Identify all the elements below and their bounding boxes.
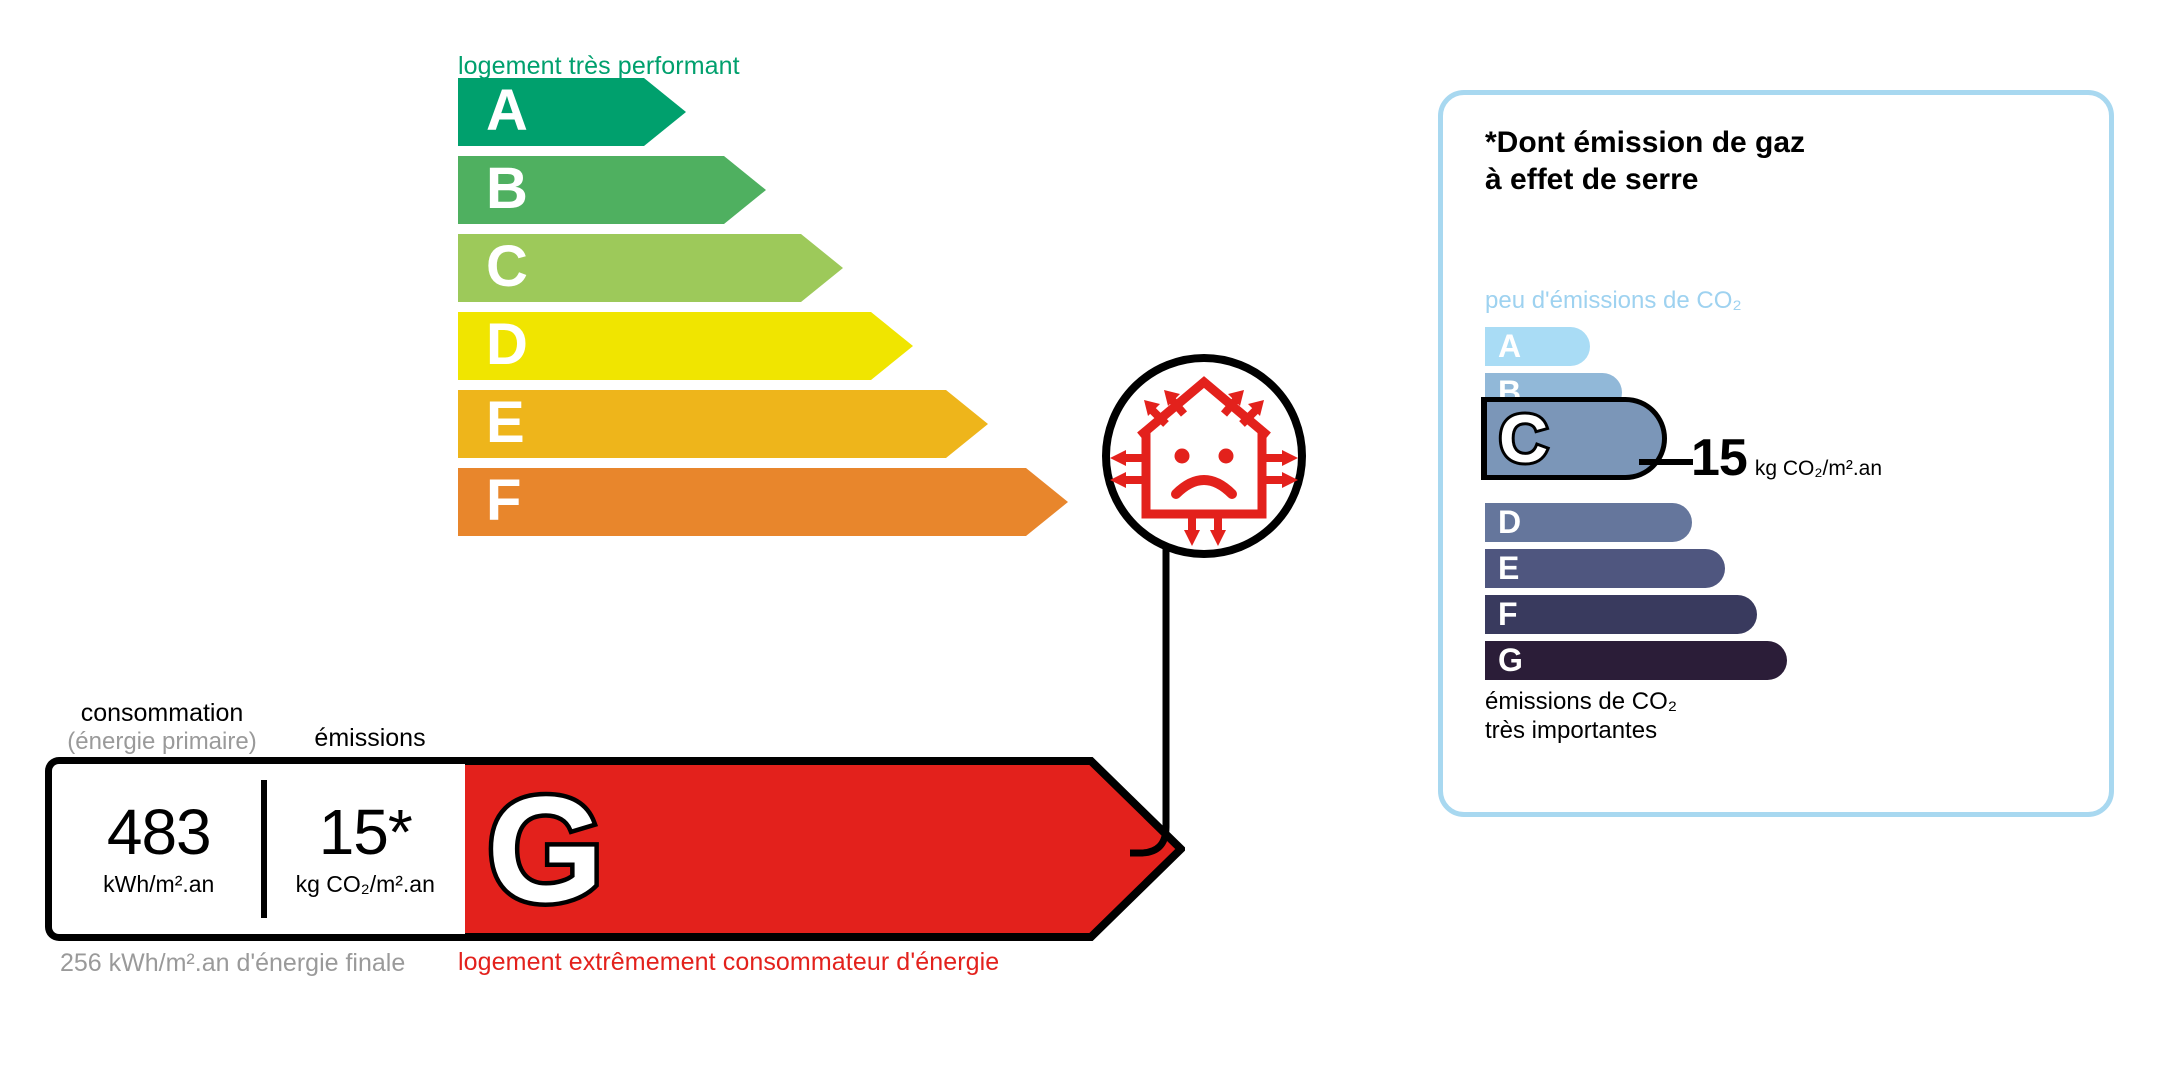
primary-energy-unit: kWh/m².an <box>103 872 214 897</box>
consumption-label: consommation (énergie primaire) <box>48 700 276 755</box>
ghg-value-number: 15 <box>1691 432 1747 484</box>
energy-arrow-shape-e <box>458 390 988 458</box>
energy-class-letter-f: F <box>486 472 521 530</box>
energy-class-letter-a: A <box>486 82 528 140</box>
ghg-class-bar-c: C <box>1481 397 1667 480</box>
ghg-class-letter-a: A <box>1498 330 1521 362</box>
ghg-value: 15 kg CO₂/m².an <box>1691 432 1882 484</box>
final-energy-note: 256 kWh/m².an d'énergie finale <box>60 948 405 979</box>
energy-arrow-shape-f <box>458 468 1068 536</box>
ghg-class-bar-d: D <box>1485 503 1692 542</box>
energy-class-bar-e: E <box>458 390 988 458</box>
ghg-class-letter-g: G <box>1498 644 1523 676</box>
energy-class-letter-e: E <box>486 394 525 452</box>
ghg-scale-worst-label: émissions de CO₂ très importantes <box>1485 687 1677 746</box>
ghg-panel-title: *Dont émission de gaz à effet de serre <box>1485 125 1805 198</box>
consumption-label-sub: (énergie primaire) <box>48 729 276 755</box>
energy-scale-worst-label: logement extrêmement consommateur d'éner… <box>458 948 999 977</box>
ghg-class-bar-e: E <box>1485 549 1725 588</box>
energy-class-letter-b: B <box>486 160 528 218</box>
values-divider <box>261 780 267 918</box>
energy-class-letter-g: G <box>487 774 604 924</box>
ghg-emissions-panel: *Dont émission de gaz à effet de serre p… <box>1438 90 2114 817</box>
energy-class-bar-d: D <box>458 312 913 380</box>
ghg-class-letter-e: E <box>1498 552 1519 584</box>
ghg-class-bar-f: F <box>1485 595 1757 634</box>
emission-number: 15* <box>319 800 412 864</box>
emissions-label: émissions <box>276 724 464 753</box>
primary-energy-value-cell: 483 kWh/m².an <box>52 764 265 934</box>
consumption-label-main: consommation <box>81 699 244 727</box>
primary-energy-number: 483 <box>107 800 211 864</box>
energy-class-bar-a: A <box>458 78 686 146</box>
ghg-class-bar-g: G <box>1485 641 1787 680</box>
energy-class-bar-f: F <box>458 468 1068 536</box>
energy-performance-chart: logement très performant ABCDEF G consom… <box>0 0 1300 1079</box>
energy-class-letter-c: C <box>486 238 528 296</box>
energy-class-bar-c: C <box>458 234 843 302</box>
energy-scale-best-label: logement très performant <box>458 52 740 81</box>
values-box: 483 kWh/m².an 15* kg CO₂/m².an <box>45 757 465 941</box>
sad-house-heat-loss-icon <box>1100 352 1308 560</box>
emission-unit: kg CO₂/m².an <box>296 872 435 897</box>
badge-connector-line <box>1130 545 1330 865</box>
ghg-value-unit: kg CO₂/m².an <box>1755 457 1882 481</box>
ghg-scale-best-label: peu d'émissions de CO₂ <box>1485 287 1742 315</box>
energy-class-letter-d: D <box>486 316 528 374</box>
emission-value-cell: 15* kg CO₂/m².an <box>265 764 465 934</box>
ghg-class-letter-d: D <box>1498 506 1521 538</box>
ghg-class-letter-f: F <box>1498 598 1518 630</box>
ghg-class-bar-a: A <box>1485 327 1590 366</box>
ghg-class-letter-c: C <box>1499 405 1548 473</box>
energy-class-bar-b: B <box>458 156 766 224</box>
